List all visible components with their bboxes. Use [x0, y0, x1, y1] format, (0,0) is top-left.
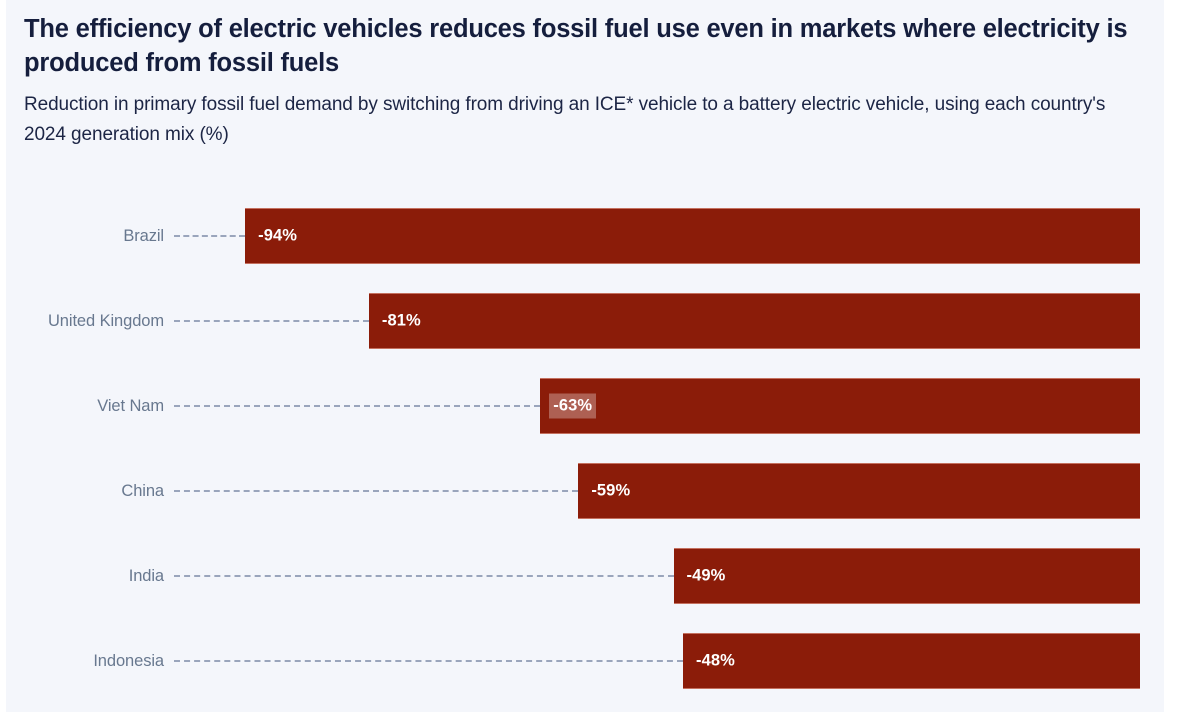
- page-title: The efficiency of electric vehicles redu…: [24, 12, 1144, 80]
- bar-row[interactable]: India-49%: [6, 548, 1170, 604]
- leader-line: [174, 405, 540, 407]
- bar[interactable]: -63%: [540, 378, 1140, 434]
- bar-row[interactable]: Indonesia-48%: [6, 633, 1170, 689]
- bar[interactable]: -81%: [369, 293, 1140, 349]
- bar-row[interactable]: United Kingdom-81%: [6, 293, 1170, 349]
- chart-panel: The efficiency of electric vehicles redu…: [6, 0, 1164, 712]
- category-label: Brazil: [123, 208, 164, 264]
- bar-value-label: -49%: [683, 564, 730, 589]
- category-label: China: [121, 463, 164, 519]
- bar-value-label: -94%: [254, 224, 301, 249]
- leader-line: [174, 490, 578, 492]
- category-label: United Kingdom: [48, 293, 164, 349]
- bar-value-label: -59%: [587, 479, 634, 504]
- chart-page: The efficiency of electric vehicles redu…: [0, 0, 1200, 712]
- category-label: India: [129, 548, 164, 604]
- leader-line: [174, 235, 245, 237]
- category-label: Indonesia: [93, 633, 164, 689]
- chart-subtitle: Reduction in primary fossil fuel demand …: [24, 90, 1144, 150]
- bar-row[interactable]: China-59%: [6, 463, 1170, 519]
- bar-value-label: -63%: [549, 394, 596, 419]
- chart-header: The efficiency of electric vehicles redu…: [24, 12, 1144, 150]
- bar[interactable]: -94%: [245, 208, 1140, 264]
- category-label: Viet Nam: [97, 378, 164, 434]
- bar-chart-plot: Brazil-94%United Kingdom-81%Viet Nam-63%…: [6, 190, 1170, 712]
- bar-row[interactable]: Viet Nam-63%: [6, 378, 1170, 434]
- bar-row[interactable]: Brazil-94%: [6, 208, 1170, 264]
- bar-value-label: -48%: [692, 649, 739, 674]
- bar[interactable]: -48%: [683, 633, 1140, 689]
- bar[interactable]: -59%: [578, 463, 1140, 519]
- bar[interactable]: -49%: [674, 548, 1140, 604]
- leader-line: [174, 575, 674, 577]
- leader-line: [174, 660, 683, 662]
- leader-line: [174, 320, 369, 322]
- bar-value-label: -81%: [378, 309, 425, 334]
